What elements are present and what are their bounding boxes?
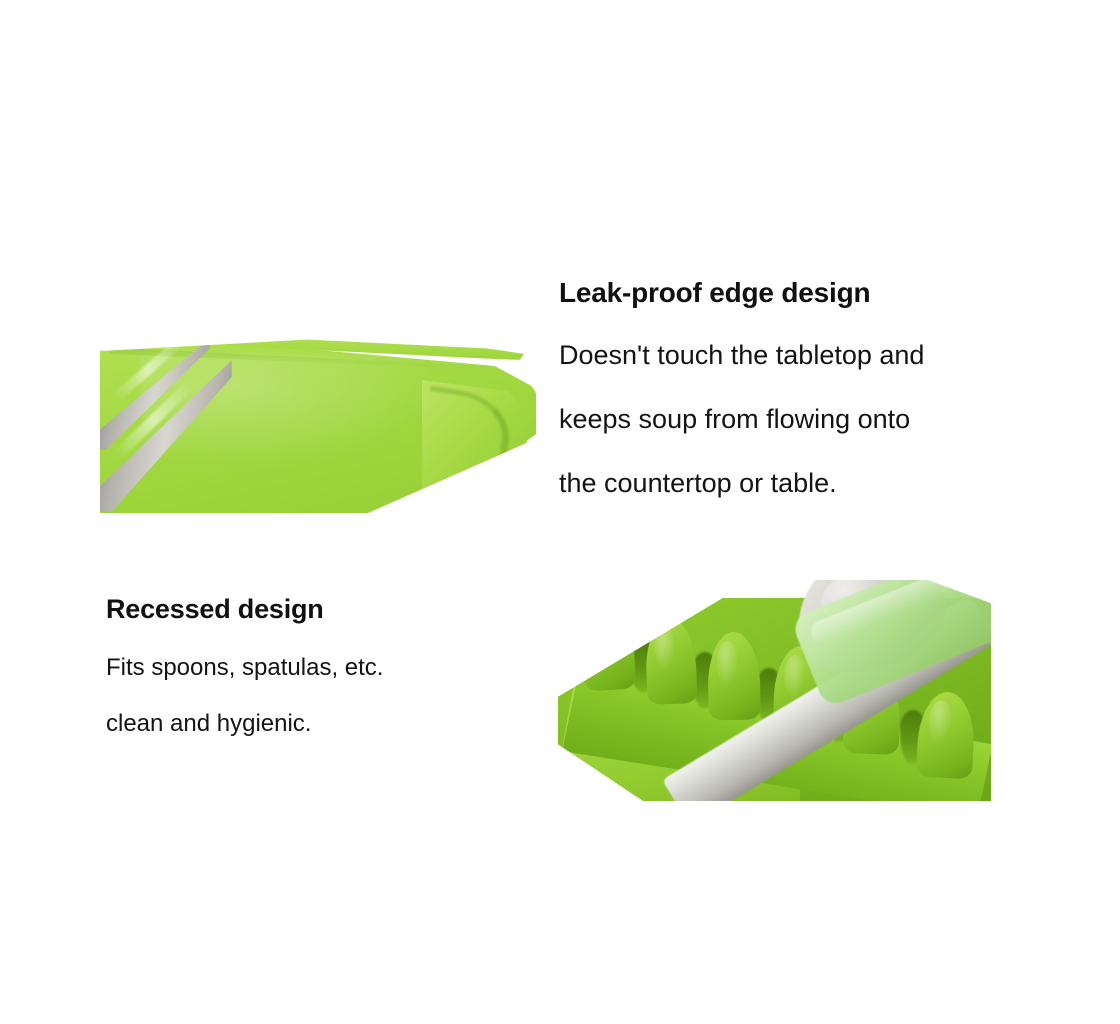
feature-body-line: the countertop or table.: [559, 468, 837, 499]
infographic-canvas: Leak-proof edge design Doesn't touch the…: [0, 0, 1120, 1024]
feature-body-line: Fits spoons, spatulas, etc.: [106, 654, 383, 682]
feature-body-line: Doesn't touch the tabletop and: [559, 340, 924, 371]
feature-body-line: keeps soup from flowing onto: [559, 404, 910, 435]
feature-heading-recessed: Recessed design: [106, 594, 324, 625]
ridge-photo-content: [558, 580, 991, 801]
feature-heading-leak-proof: Leak-proof edge design: [559, 277, 870, 309]
feature-body-line: clean and hygienic.: [106, 710, 311, 738]
tray-photo-content: [100, 318, 536, 513]
scalloped-ridge-photo: [558, 580, 991, 801]
green-tray-corner-photo: [100, 318, 536, 513]
